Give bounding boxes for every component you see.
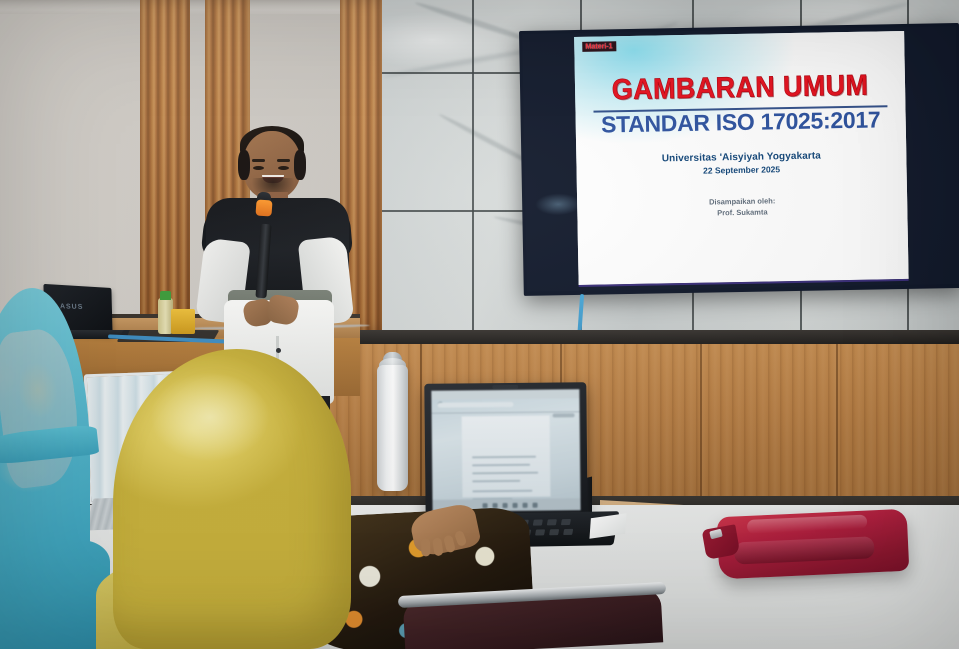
green-bottle-cap <box>160 291 171 300</box>
slide-subtitle: STANDAR ISO 17025:2017 <box>576 108 906 137</box>
black-laptop[interactable] <box>424 382 587 524</box>
microphone-orange-band <box>255 199 272 216</box>
slide-badge: Materi-1 <box>582 41 616 52</box>
gold-box <box>171 309 195 334</box>
presenter-hair-right <box>294 150 306 180</box>
screen-glare <box>535 193 581 216</box>
attendee-left-body <box>0 540 110 649</box>
shirt-button <box>276 348 281 353</box>
red-handbag[interactable] <box>717 509 910 580</box>
laptop-screen <box>431 389 580 512</box>
asus-logo: ASUS <box>60 303 84 311</box>
presentation-slide: Materi-1 GAMBARAN UMUM STANDAR ISO 17025… <box>574 31 909 287</box>
slide-title: GAMBARAN UMUM <box>586 71 893 106</box>
wood-slat-column-left <box>140 0 190 330</box>
tv-panel: Materi-1 GAMBARAN UMUM STANDAR ISO 17025… <box>522 26 959 292</box>
presenter-hair-left <box>238 150 250 180</box>
attendee-center-hijab-highlight <box>150 372 270 462</box>
wall-mounted-tv[interactable]: Materi-1 GAMBARAN UMUM STANDAR ISO 17025… <box>519 23 959 296</box>
laptop-webcam <box>492 385 518 389</box>
white-water-bottle <box>377 365 408 491</box>
ceiling-shadow <box>0 0 380 10</box>
photo-scene: Materi-1 GAMBARAN UMUM STANDAR ISO 17025… <box>0 0 959 649</box>
